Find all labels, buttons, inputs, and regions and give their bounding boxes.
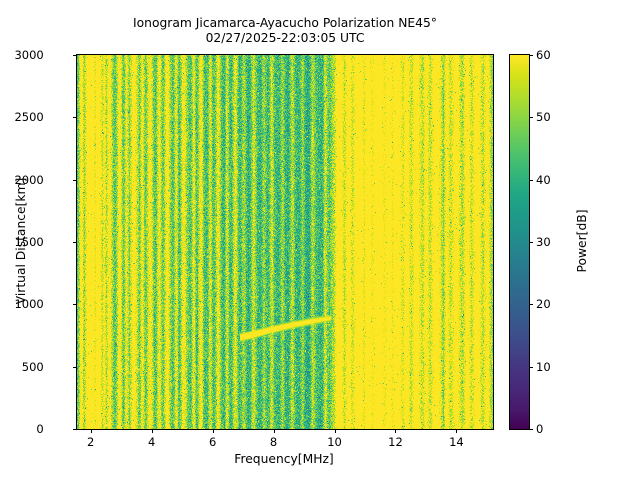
x-tick-label: 6 [209,435,216,449]
y-tick-mark [73,180,77,181]
colorbar-tick-label: 50 [536,110,551,124]
x-tick-label: 8 [270,435,277,449]
x-tick-mark [456,429,457,433]
y-tick-mark [73,55,77,56]
colorbar-label: Power[dB] [575,54,595,428]
colorbar-tick-label: 10 [536,360,551,374]
x-tick-mark [213,429,214,433]
ionogram-figure: Ionogram Jicamarca-Ayacucho Polarization… [0,0,640,480]
colorbar-tick-label: 20 [536,297,551,311]
y-tick-mark [73,367,77,368]
colorbar-tick-label: 30 [536,235,551,249]
colorbar-tick-mark [529,117,533,118]
figure-title-line-2: 02/27/2025-22:03:05 UTC [206,31,365,45]
colorbar-tick-mark [529,180,533,181]
x-tick-label: 12 [388,435,403,449]
ionogram-heatmap-canvas [77,55,493,429]
y-tick-mark [73,117,77,118]
ionogram-plot-area: 050010001500200025003000 2468101214 [76,54,494,430]
x-tick-mark [335,429,336,433]
figure-title: Ionogram Jicamarca-Ayacucho Polarization… [0,16,570,46]
y-axis-label: Virtual Distance[km] [14,54,36,428]
y-tick-mark [73,242,77,243]
x-tick-mark [91,429,92,433]
colorbar: 0102030405060 [509,54,530,430]
x-tick-label: 4 [148,435,155,449]
x-tick-label: 10 [327,435,342,449]
y-tick-mark [73,304,77,305]
x-tick-mark [152,429,153,433]
x-axis-label: Frequency[MHz] [76,452,492,466]
x-tick-mark [395,429,396,433]
x-tick-label: 14 [449,435,464,449]
colorbar-tick-label: 40 [536,173,551,187]
colorbar-tick-mark [529,55,533,56]
colorbar-tick-mark [529,304,533,305]
colorbar-tick-label: 0 [536,422,543,436]
colorbar-tick-mark [529,367,533,368]
y-tick-mark [73,429,77,430]
x-tick-label: 2 [87,435,94,449]
colorbar-gradient [510,55,529,429]
x-tick-mark [274,429,275,433]
colorbar-tick-label: 60 [536,48,551,62]
colorbar-tick-mark [529,242,533,243]
colorbar-tick-mark [529,429,533,430]
figure-title-line-1: Ionogram Jicamarca-Ayacucho Polarization… [133,16,437,30]
y-tick-label: 0 [36,422,43,436]
